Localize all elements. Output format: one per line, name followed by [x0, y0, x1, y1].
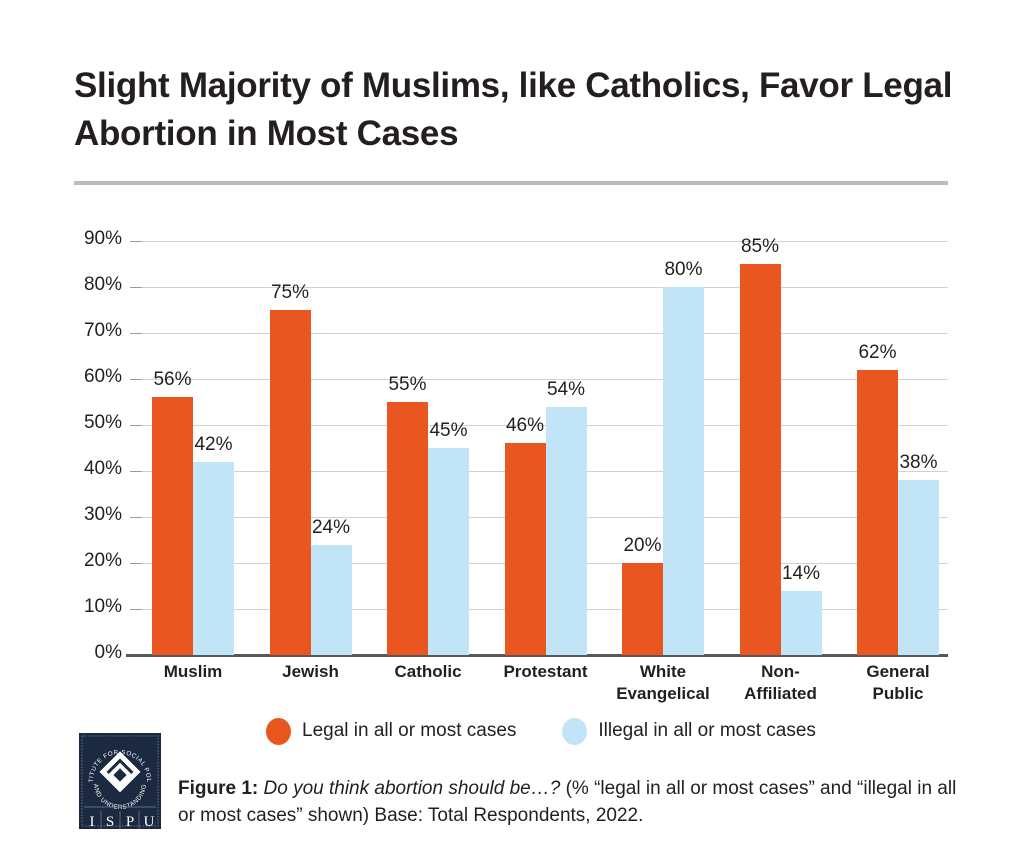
x-axis-category-label: GeneralPublic — [823, 661, 973, 705]
legend-swatch-circle-icon — [266, 718, 291, 745]
legend-item-illegal[interactable]: Illegal in all or most cases — [562, 718, 816, 745]
svg-text:S: S — [106, 814, 114, 829]
y-axis-tick-mark — [130, 241, 142, 242]
y-axis-tick-label: 90% — [62, 228, 122, 250]
y-axis-tick-mark — [130, 425, 142, 426]
x-axis-label-line: Public — [872, 684, 923, 703]
bar — [781, 591, 822, 655]
bar-value-label: 62% — [847, 342, 909, 364]
legend-label: Illegal in all or most cases — [598, 720, 816, 742]
x-axis-label-line: General — [866, 662, 929, 681]
y-axis-tick-mark — [130, 563, 142, 564]
x-axis-label-line: Non- — [761, 662, 800, 681]
y-axis-tick-label: 40% — [62, 458, 122, 480]
bar-value-label: 55% — [377, 374, 439, 396]
y-axis-tick-label: 50% — [62, 412, 122, 434]
figure-number: Figure 1: — [178, 778, 258, 799]
bar-value-label: 56% — [142, 369, 204, 391]
bar — [622, 563, 663, 655]
bar — [546, 407, 587, 655]
bar — [270, 310, 311, 655]
y-axis-tick-label: 30% — [62, 504, 122, 526]
infographic-page: Slight Majority of Muslims, like Catholi… — [0, 0, 1024, 859]
bar-value-label: 38% — [888, 452, 950, 474]
bar — [428, 448, 469, 655]
bar — [740, 264, 781, 655]
y-axis-tick-mark — [130, 609, 142, 610]
legend-label: Legal in all or most cases — [302, 720, 516, 742]
y-axis-tick-mark — [130, 379, 142, 380]
svg-text:U: U — [144, 814, 155, 829]
bar — [193, 462, 234, 655]
y-axis-tick-label: 70% — [62, 320, 122, 342]
legend-swatch-circle-icon — [562, 718, 587, 745]
ispu-logo-mark-icon: INSTITUTE FOR SOCIAL POLICY AND UNDERSTA… — [79, 733, 161, 829]
x-axis-label-line: Affiliated — [744, 684, 817, 703]
x-axis-label-line: Muslim — [164, 662, 223, 681]
chart-legend: Legal in all or most cases Illegal in al… — [266, 714, 816, 748]
x-axis-label-line: Protestant — [503, 662, 587, 681]
ispu-logo: INSTITUTE FOR SOCIAL POLICY AND UNDERSTA… — [79, 733, 161, 829]
y-axis-tick-label: 80% — [62, 274, 122, 296]
figure-question: Do you think abortion should be…? — [258, 778, 565, 799]
bar-value-label: 42% — [183, 434, 245, 456]
x-axis-label-line: White — [640, 662, 686, 681]
bar-value-label: 24% — [300, 517, 362, 539]
bar-value-label: 80% — [653, 259, 715, 281]
svg-text:P: P — [126, 814, 134, 829]
gridline — [130, 333, 948, 334]
y-axis-tick-mark — [130, 517, 142, 518]
bar — [857, 370, 898, 655]
y-axis-tick-label: 0% — [62, 642, 122, 664]
bar — [898, 480, 939, 655]
y-axis-tick-mark — [130, 287, 142, 288]
y-axis-tick-label: 10% — [62, 596, 122, 618]
gridline — [130, 287, 948, 288]
y-axis-tick-label: 20% — [62, 550, 122, 572]
bar-value-label: 75% — [259, 282, 321, 304]
bar — [663, 287, 704, 655]
bar-value-label: 45% — [418, 420, 480, 442]
figure-caption: Figure 1: Do you think abortion should b… — [178, 775, 968, 829]
bar-value-label: 54% — [535, 379, 597, 401]
bar — [505, 443, 546, 655]
x-axis-label-line: Evangelical — [616, 684, 710, 703]
svg-text:I: I — [90, 814, 95, 829]
x-axis-label-line: Jewish — [282, 662, 339, 681]
y-axis-tick-label: 60% — [62, 366, 122, 388]
legend-item-legal[interactable]: Legal in all or most cases — [266, 718, 516, 745]
bar-value-label: 14% — [770, 563, 832, 585]
gridline — [130, 241, 948, 242]
y-axis-tick-mark — [130, 471, 142, 472]
bar — [311, 545, 352, 655]
y-axis-tick-mark — [130, 333, 142, 334]
bar-value-label: 85% — [729, 236, 791, 258]
x-axis-label-line: Catholic — [394, 662, 461, 681]
